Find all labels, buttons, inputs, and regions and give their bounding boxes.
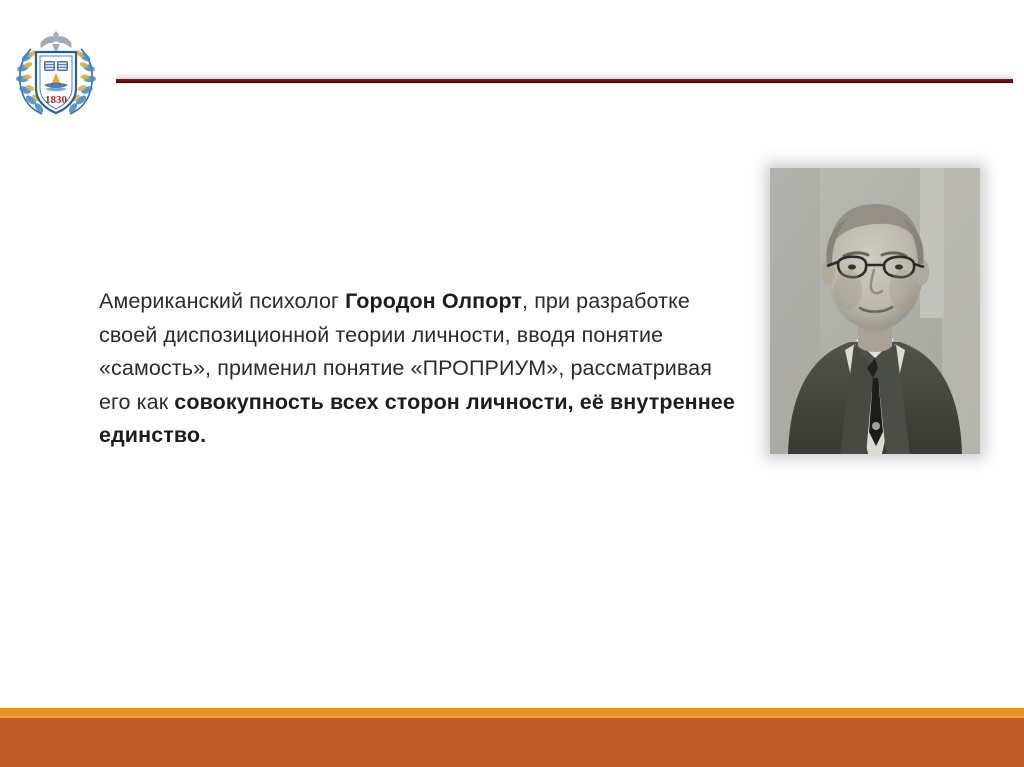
footer-brown-bar [0, 718, 1024, 767]
paragraph-segment-bold-name: Городон Олпорт [345, 289, 522, 313]
university-crest-logo: 1830 [11, 27, 101, 119]
paragraph-segment-normal-1: Американский психолог [99, 289, 345, 313]
content-paragraph: Американский психолог Городон Олпорт, пр… [99, 285, 744, 453]
portrait-photo [770, 168, 980, 454]
header-divider-rule [116, 73, 1013, 85]
footer-amber-bar [0, 708, 1024, 718]
slide-canvas: 1830 Американский психолог Городон Олпор… [0, 0, 1024, 767]
logo-year-text: 1830 [45, 94, 68, 106]
paragraph-segment-bold-tail: совокупность всех сторон личности, её вн… [99, 390, 735, 448]
header-rule-line [116, 79, 1013, 83]
